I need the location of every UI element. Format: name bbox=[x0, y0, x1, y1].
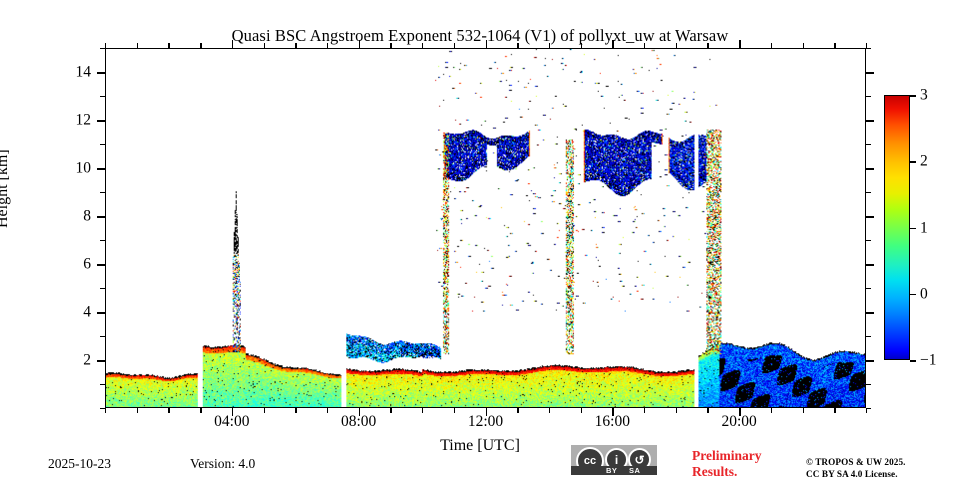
y-tick bbox=[100, 144, 105, 145]
x-tick-top bbox=[295, 43, 296, 48]
y-tick bbox=[97, 168, 105, 170]
colorbar-tick-label: 1 bbox=[920, 220, 928, 236]
preliminary-line-1: Preliminary bbox=[692, 448, 802, 464]
colorbar-tick bbox=[910, 294, 916, 296]
cc-sa-label: SA bbox=[629, 466, 640, 475]
x-tick-top bbox=[676, 43, 677, 48]
y-tick-right bbox=[866, 336, 871, 337]
y-tick bbox=[100, 96, 105, 97]
y-tick-right bbox=[866, 96, 871, 97]
x-tick-label: 08:00 bbox=[341, 414, 376, 430]
x-tick-top bbox=[264, 43, 265, 48]
copyright-line-1: © TROPOS & UW 2025. bbox=[806, 456, 906, 468]
preliminary-results-note: Preliminary Results. bbox=[692, 448, 802, 479]
y-tick bbox=[100, 336, 105, 337]
x-tick bbox=[707, 408, 708, 413]
y-tick-right bbox=[866, 168, 874, 170]
x-tick-label: 12:00 bbox=[468, 414, 503, 430]
x-tick-label: 04:00 bbox=[214, 414, 249, 430]
y-tick-right bbox=[866, 312, 874, 314]
colorbar-tick bbox=[910, 360, 916, 362]
x-tick-top bbox=[834, 43, 835, 48]
cc-by-label: BY bbox=[606, 466, 617, 475]
x-axis-label: Time [UTC] bbox=[0, 437, 960, 455]
x-tick bbox=[581, 408, 582, 413]
x-tick-label: 16:00 bbox=[595, 414, 630, 430]
x-tick-top bbox=[454, 43, 455, 48]
y-tick-right bbox=[866, 120, 874, 122]
colorbar-tick bbox=[910, 161, 916, 163]
y-tick-right bbox=[866, 288, 871, 289]
y-tick-right bbox=[866, 264, 874, 266]
y-tick-label: 14 bbox=[31, 64, 91, 80]
copyright-note: © TROPOS & UW 2025. CC BY SA 4.0 License… bbox=[806, 456, 906, 481]
colorbar-gradient bbox=[884, 95, 910, 360]
x-tick bbox=[803, 408, 804, 413]
y-tick-label: 8 bbox=[31, 208, 91, 224]
x-tick bbox=[390, 408, 391, 413]
y-tick bbox=[100, 384, 105, 385]
x-tick-top bbox=[422, 43, 423, 48]
x-tick-top bbox=[486, 40, 488, 48]
y-tick-right bbox=[866, 240, 871, 241]
colorbar-tick bbox=[910, 95, 916, 97]
x-tick bbox=[295, 408, 296, 413]
x-tick bbox=[168, 408, 169, 413]
x-tick bbox=[866, 408, 867, 413]
page-title: Quasi BSC Angstroem Exponent 532-1064 (V… bbox=[0, 26, 960, 46]
x-tick-top bbox=[137, 43, 138, 48]
y-tick-label: 4 bbox=[31, 304, 91, 320]
x-tick-top bbox=[327, 43, 328, 48]
cc-license-badge[interactable]: cc i ↺ BY SA bbox=[571, 445, 657, 475]
axis-ticks bbox=[105, 48, 866, 408]
x-tick bbox=[105, 408, 106, 413]
y-tick-label: 12 bbox=[31, 112, 91, 128]
x-tick-top bbox=[644, 43, 645, 48]
colorbar-tick-label: 3 bbox=[920, 87, 928, 103]
x-tick-top bbox=[105, 43, 106, 48]
y-tick-right bbox=[866, 72, 874, 74]
x-tick bbox=[644, 408, 645, 413]
y-tick bbox=[97, 312, 105, 314]
x-tick-top bbox=[200, 43, 201, 48]
x-tick-top bbox=[707, 43, 708, 48]
x-tick-top bbox=[739, 40, 741, 48]
x-tick-top bbox=[581, 43, 582, 48]
cc-badge-glyphs: cc i ↺ bbox=[571, 445, 657, 467]
colorbar-tick-label: −1 bbox=[920, 352, 937, 368]
y-tick bbox=[97, 216, 105, 218]
y-tick bbox=[97, 360, 105, 362]
x-tick-top bbox=[866, 43, 867, 48]
x-tick-top bbox=[549, 43, 550, 48]
y-tick-right bbox=[866, 384, 871, 385]
y-tick-right bbox=[866, 144, 871, 145]
x-tick-top bbox=[390, 43, 391, 48]
preliminary-line-2: Results. bbox=[692, 464, 802, 480]
x-tick bbox=[422, 408, 423, 413]
x-tick bbox=[327, 408, 328, 413]
footer-date: 2025-10-23 bbox=[48, 456, 111, 472]
y-tick bbox=[100, 288, 105, 289]
x-tick bbox=[676, 408, 677, 413]
y-tick bbox=[97, 264, 105, 266]
y-tick-right bbox=[866, 216, 874, 218]
y-tick bbox=[100, 240, 105, 241]
colorbar-tick-label: 2 bbox=[920, 154, 928, 170]
copyright-line-2: CC BY SA 4.0 License. bbox=[806, 468, 906, 480]
x-tick-top bbox=[168, 43, 169, 48]
x-tick bbox=[454, 408, 455, 413]
y-tick-label: 2 bbox=[31, 352, 91, 368]
y-axis-label: Height [km] bbox=[0, 149, 12, 228]
y-tick bbox=[100, 48, 105, 49]
y-tick-right bbox=[866, 360, 874, 362]
colorbar-tick bbox=[910, 228, 916, 230]
y-tick-label: 10 bbox=[31, 160, 91, 176]
colorbar: −10123 bbox=[884, 95, 910, 360]
x-tick bbox=[137, 408, 138, 413]
y-tick-right bbox=[866, 48, 871, 49]
x-tick-top bbox=[771, 43, 772, 48]
x-tick bbox=[200, 408, 201, 413]
y-tick-right bbox=[866, 192, 871, 193]
footer-version: Version: 4.0 bbox=[190, 456, 255, 472]
x-tick bbox=[549, 408, 550, 413]
x-tick-top bbox=[232, 40, 234, 48]
x-tick-top bbox=[612, 40, 614, 48]
figure: Quasi BSC Angstroem Exponent 532-1064 (V… bbox=[0, 0, 960, 480]
y-tick bbox=[97, 120, 105, 122]
x-tick-top bbox=[517, 43, 518, 48]
x-tick bbox=[834, 408, 835, 413]
x-tick bbox=[517, 408, 518, 413]
y-tick bbox=[100, 192, 105, 193]
y-tick-label: 6 bbox=[31, 256, 91, 272]
x-tick bbox=[771, 408, 772, 413]
x-tick-label: 20:00 bbox=[722, 414, 757, 430]
colorbar-tick-label: 0 bbox=[920, 286, 928, 302]
y-tick bbox=[97, 72, 105, 74]
x-tick-top bbox=[803, 43, 804, 48]
x-tick bbox=[264, 408, 265, 413]
x-tick-top bbox=[359, 40, 361, 48]
